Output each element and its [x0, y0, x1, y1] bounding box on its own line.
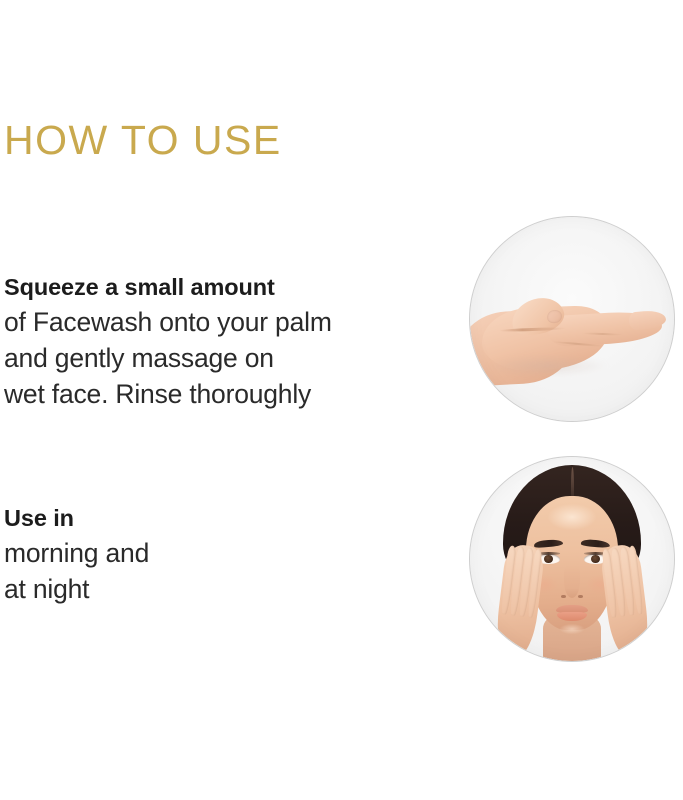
face-nose — [564, 565, 580, 598]
step-2-body-line-1: morning and — [4, 535, 449, 571]
step-2-body-line-2: at night — [4, 571, 449, 607]
face-photo — [469, 456, 675, 662]
step-1-body-line-2: and gently massage on — [4, 340, 449, 376]
palm-photo-inner — [470, 217, 674, 421]
face-hand-right — [599, 543, 651, 657]
step-2-body: morning and at night — [4, 535, 449, 607]
step-1-heading: Squeeze a small amount — [4, 272, 449, 302]
step-item-2: Use in morning and at night — [4, 503, 449, 607]
face-illustration — [470, 457, 674, 661]
face-iris-right — [591, 555, 600, 564]
palm-shadow — [486, 356, 608, 376]
step-2-heading: Use in — [4, 503, 449, 533]
step-item-1: Squeeze a small amount of Facewash onto … — [4, 272, 449, 412]
face-forehead-highlight — [548, 504, 597, 531]
step-1-body-line-1: of Facewash onto your palm — [4, 304, 449, 340]
face-hand-left — [493, 543, 545, 657]
page-title: HOW TO USE — [4, 116, 282, 164]
palm-illustration — [470, 217, 674, 421]
how-to-use-panel: HOW TO USE Squeeze a small amount of Fac… — [0, 0, 683, 800]
face-photo-inner — [470, 457, 674, 661]
face-iris-left — [544, 555, 553, 564]
step-1-body-line-3: wet face. Rinse thoroughly — [4, 376, 449, 412]
face-chin-highlight — [560, 624, 584, 634]
palm-photo — [469, 216, 675, 422]
step-1-body: of Facewash onto your palm and gently ma… — [4, 304, 449, 412]
